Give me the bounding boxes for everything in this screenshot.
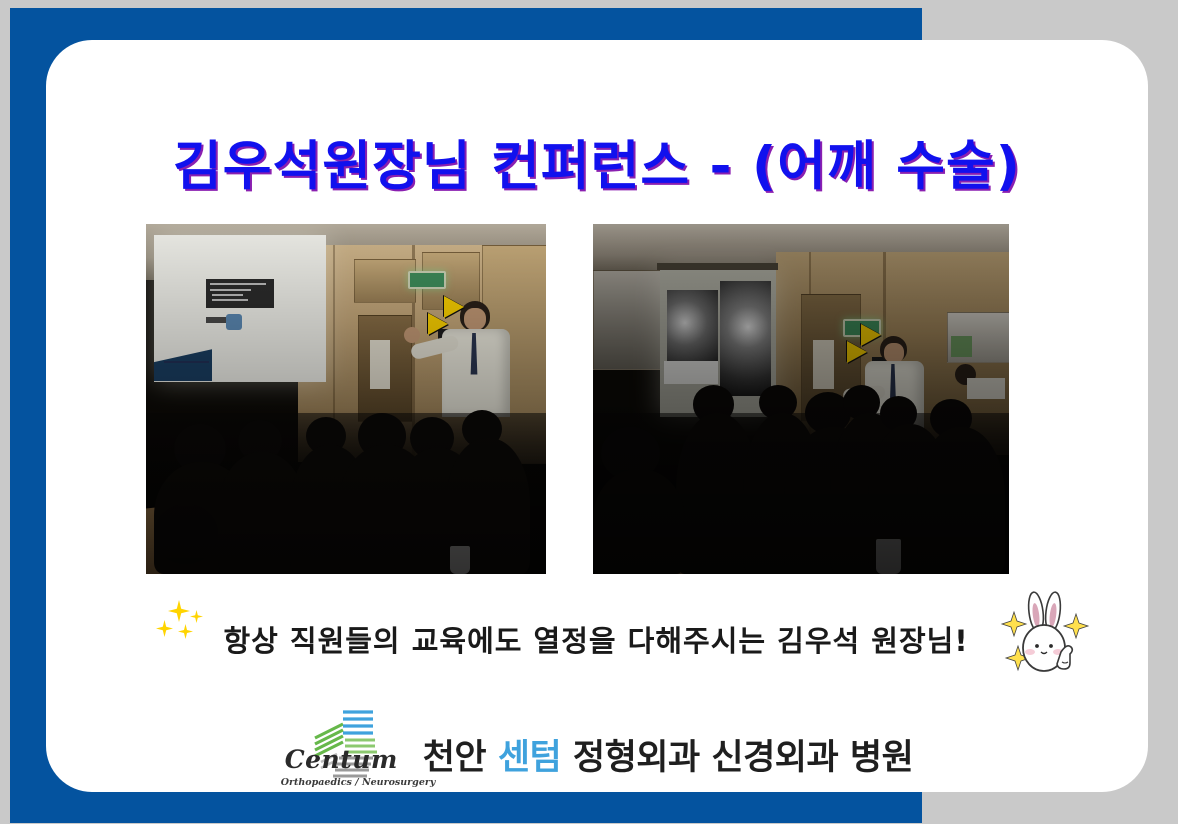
hospital-name-part: 정형외과 신경외과 병원 — [561, 738, 913, 778]
sparkle-icon — [156, 620, 173, 637]
slide-shape — [154, 349, 212, 381]
mri-highlight — [664, 361, 718, 385]
exit-sign — [408, 271, 446, 289]
caption-area: 항상 직원들의 교육에도 열정을 다해주시는 김우석 원장님! — [46, 596, 1148, 686]
shelf-paper — [370, 340, 390, 389]
hospital-name-accent: 센텀 — [498, 738, 561, 778]
yellow-chevron-icon — [847, 341, 867, 363]
audience-silhouette — [917, 427, 1004, 574]
hospital-logo: Centum Orthopaedics / Neurosurgery 천안 센텀… — [46, 704, 1148, 788]
cabinet — [354, 259, 416, 303]
mri-image — [720, 281, 771, 396]
slide-figure — [226, 314, 241, 330]
conference-photo-left — [146, 224, 546, 574]
photo-row — [146, 224, 1066, 574]
conference-photo-right — [593, 224, 1009, 574]
logo-subtitle: Orthopaedics / Neurosurgery — [281, 777, 436, 788]
caption-text: 항상 직원들의 교육에도 열정을 다해주시는 김우석 원장님! — [176, 618, 1016, 660]
shelf-paper — [813, 340, 834, 389]
presenter-face — [884, 343, 904, 363]
projection-screen — [154, 235, 326, 382]
drink-cup — [450, 546, 470, 574]
yellow-chevron-icon — [428, 313, 448, 335]
screen-rail — [657, 263, 778, 270]
rabbit-sticker — [998, 590, 1090, 678]
cabinet-item — [951, 336, 972, 357]
slide-title-block — [206, 279, 275, 308]
drink-cup — [876, 539, 901, 574]
slide-caption-line — [164, 361, 209, 363]
page-title: 김우석원장님 컨퍼런스 - (어깨 수술) — [46, 124, 1148, 200]
monitor — [967, 378, 1004, 399]
white-content-card: 김우석원장님 컨퍼런스 - (어깨 수술) — [46, 40, 1148, 792]
hospital-name-part: 천안 — [423, 738, 498, 778]
slide-canvas: 김우석원장님 컨퍼런스 - (어깨 수술) — [0, 0, 1186, 833]
hospital-name: 천안 센텀 정형외과 신경외과 병원 — [423, 729, 914, 788]
logo-mark-icon: Centum Orthopaedics / Neurosurgery — [281, 704, 413, 788]
audience-silhouette — [154, 504, 218, 564]
logo-wordmark: Centum — [285, 745, 398, 774]
audience-silhouette — [593, 469, 685, 574]
presenter-face — [464, 308, 486, 330]
cabinet — [593, 270, 662, 370]
